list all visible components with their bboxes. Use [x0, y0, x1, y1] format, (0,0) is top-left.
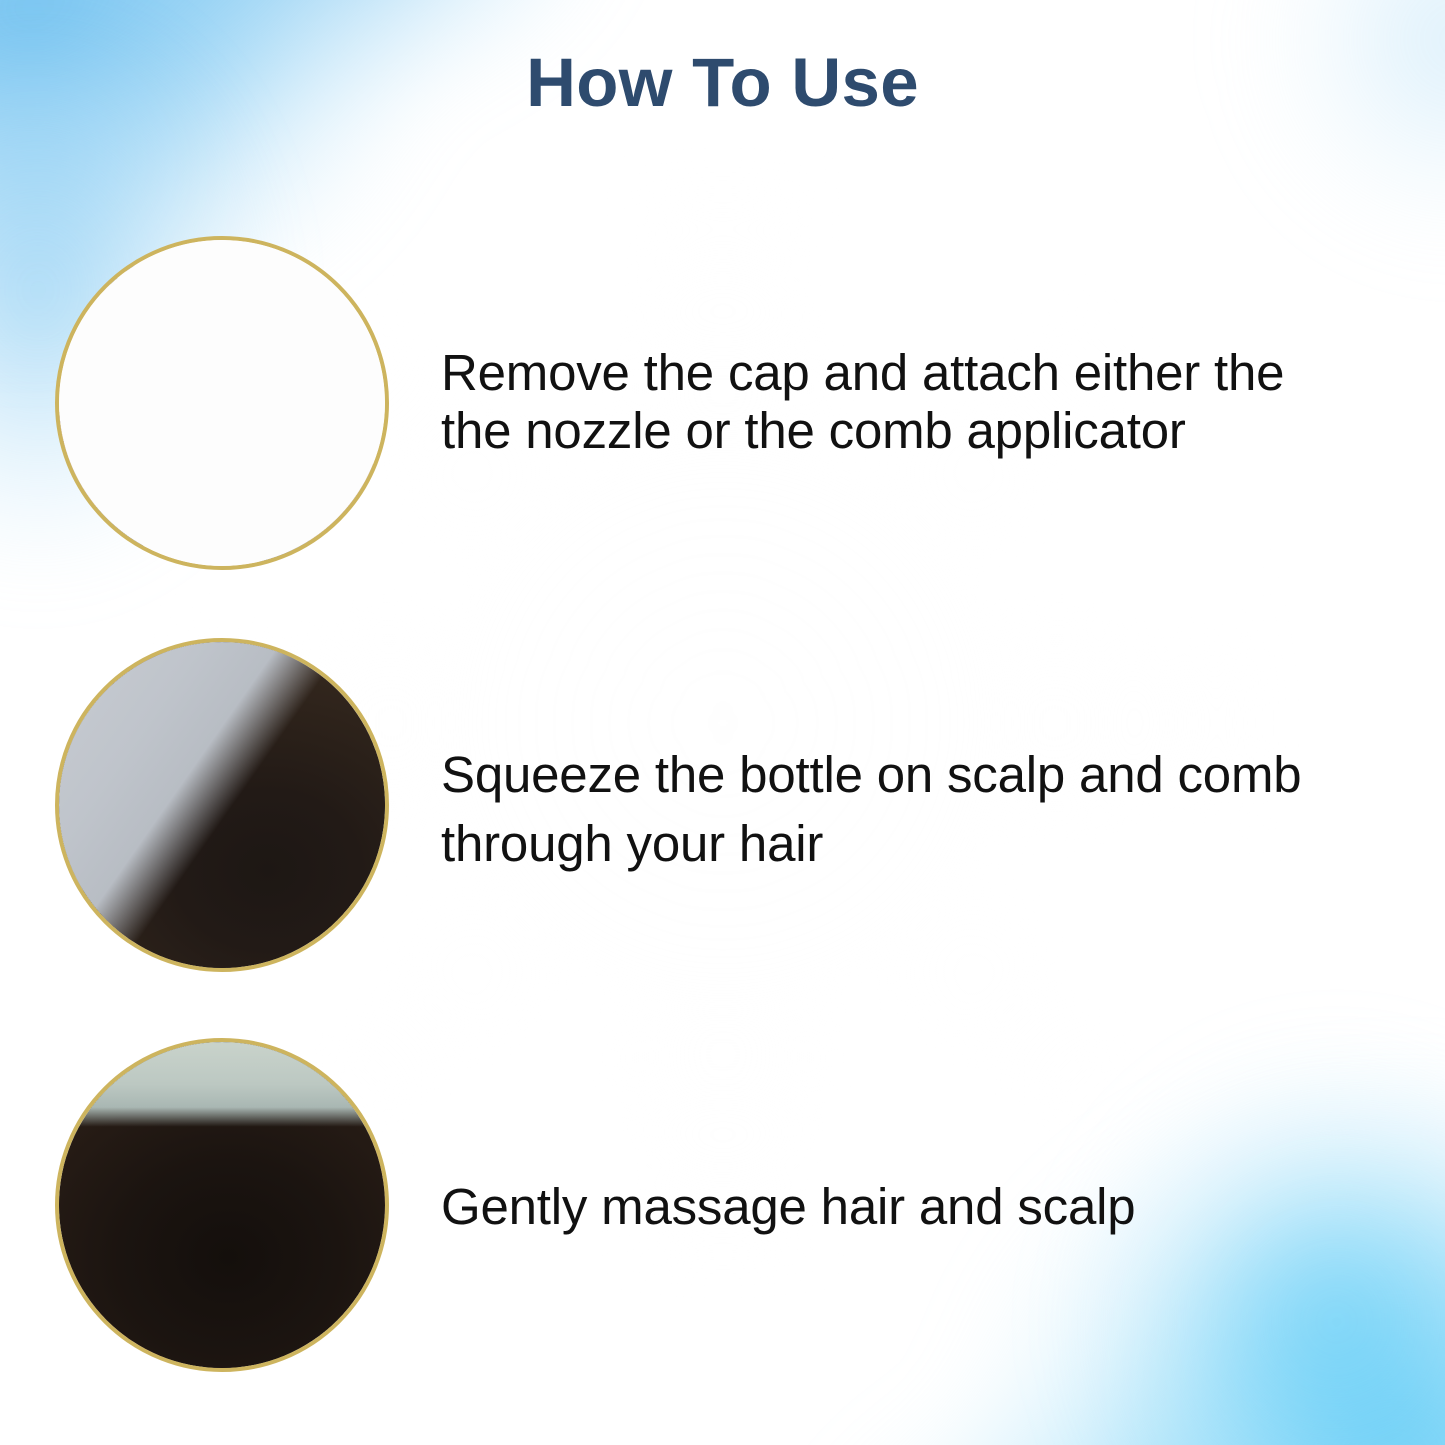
step-1-text: Remove the cap and attach either the the… [441, 344, 1351, 460]
photo-backdrop [59, 240, 385, 566]
page-title: How To Use [0, 48, 1445, 117]
step-1: Remove the cap and attach either the the… [0, 236, 1445, 576]
bottle-applying-to-scalp-photo [59, 642, 385, 968]
hands-massaging-scalp-photo [59, 1042, 385, 1368]
step-2-image-frame [55, 638, 389, 972]
step-2: Squeeze the bottle on scalp and comb thr… [0, 638, 1445, 978]
step-3: Gently massage hair and scalp [0, 1038, 1445, 1378]
step-1-image-frame [55, 236, 389, 570]
comb-and-nozzle-applicator-bottles-photo [59, 240, 385, 566]
step-2-text: Squeeze the bottle on scalp and comb thr… [441, 740, 1351, 879]
photo-backdrop [59, 642, 385, 968]
step-2-line-2: through your hair [441, 809, 1351, 878]
step-1-line-1: Remove the cap and attach either the [441, 344, 1351, 402]
step-3-image-frame [55, 1038, 389, 1372]
step-2-line-1: Squeeze the bottle on scalp and comb [441, 740, 1351, 809]
step-3-text: Gently massage hair and scalp [441, 1176, 1351, 1237]
how-to-use-infographic: How To Use [0, 0, 1445, 1445]
step-1-line-2: the nozzle or the comb applicator [441, 402, 1351, 460]
step-3-line-1: Gently massage hair and scalp [441, 1176, 1351, 1237]
photo-backdrop [59, 1042, 385, 1368]
